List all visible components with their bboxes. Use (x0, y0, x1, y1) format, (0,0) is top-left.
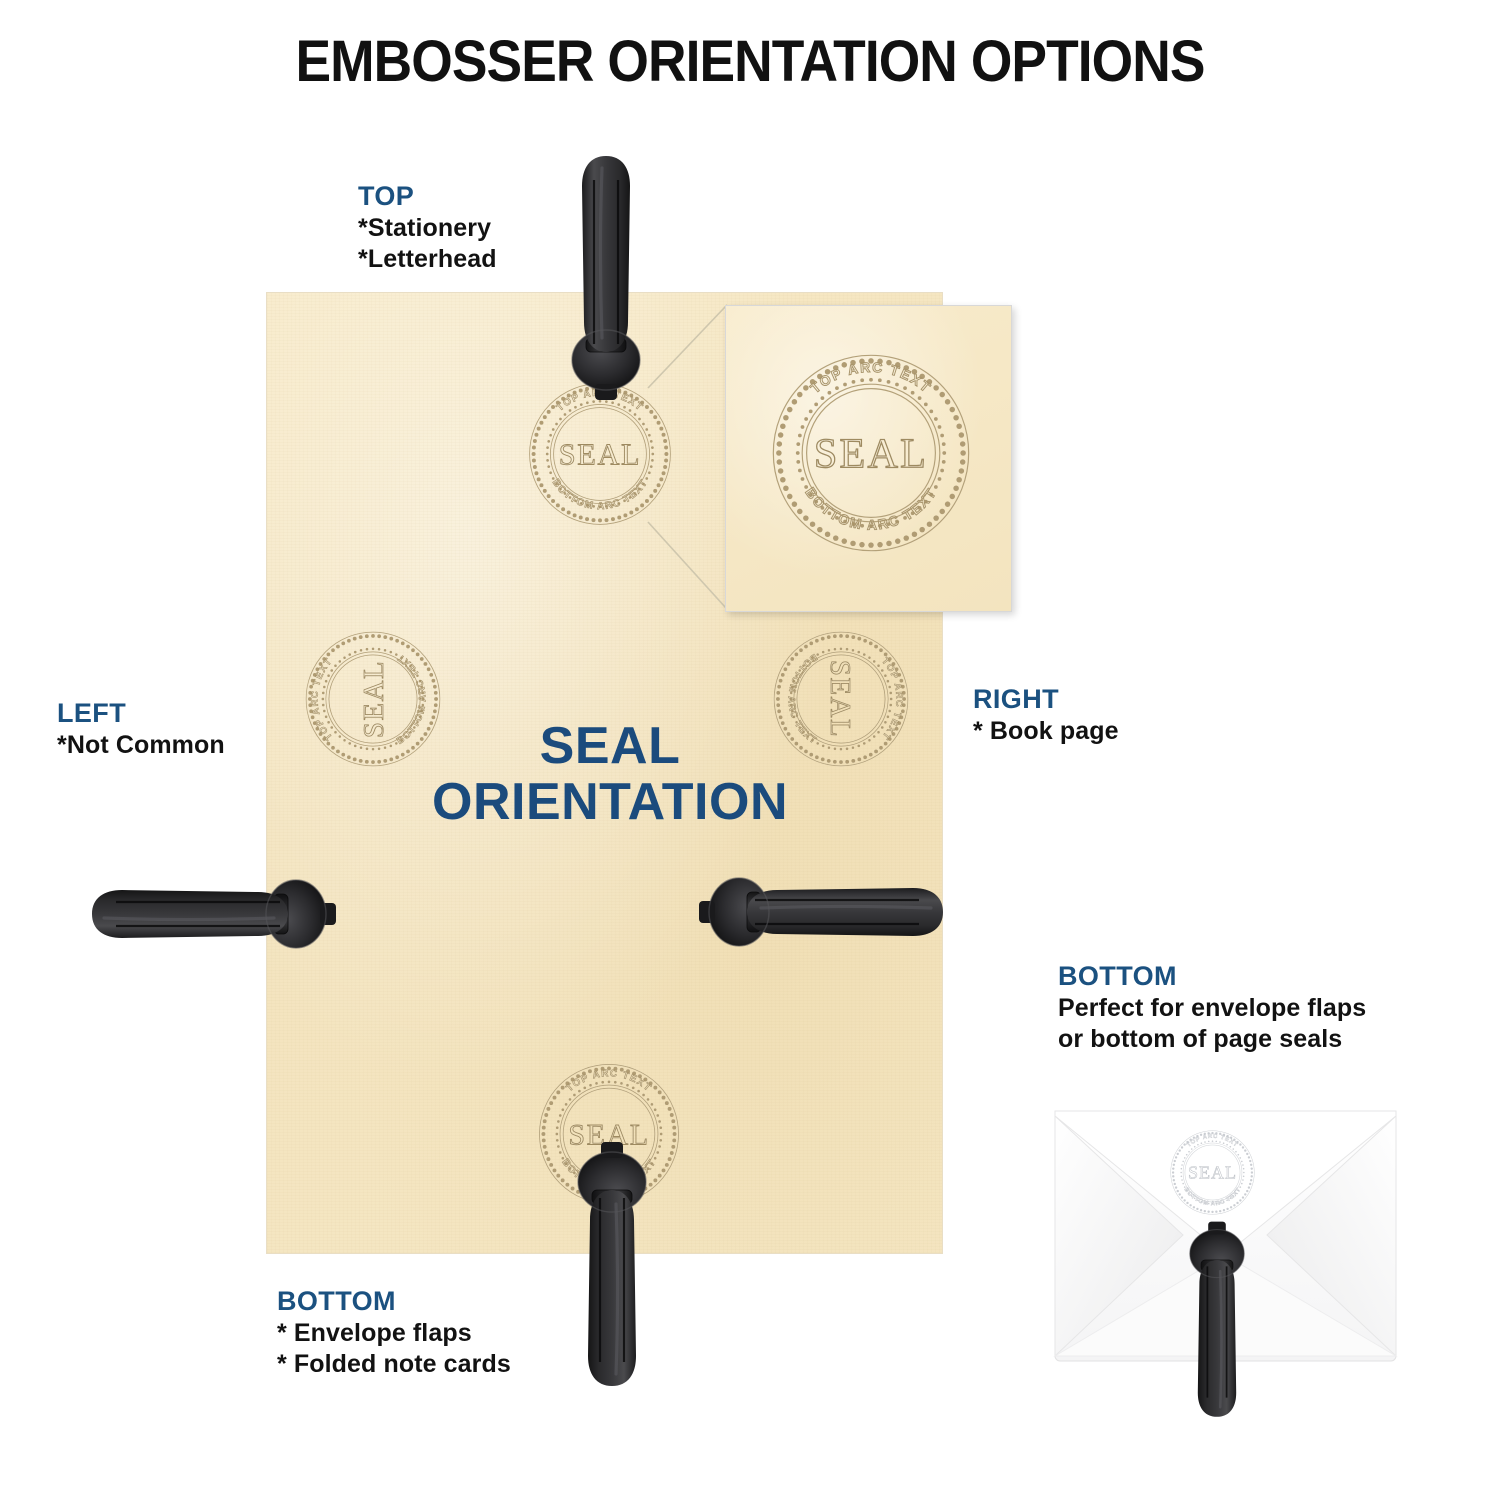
center-label-line-2: ORIENTATION (330, 774, 890, 830)
callout-top-line-2: *Letterhead (358, 244, 497, 276)
callout-right-heading: RIGHT (973, 683, 1119, 716)
infographic-canvas: EMBOSSER ORIENTATION OPTIONS TOP ARC TEX… (0, 0, 1500, 1500)
callout-bottom-page-heading: BOTTOM (277, 1285, 511, 1318)
callout-top-heading: TOP (358, 180, 497, 213)
page-title: EMBOSSER ORIENTATION OPTIONS (60, 28, 1440, 95)
magnified-seal-panel (725, 305, 1012, 612)
callout-left-heading: LEFT (57, 697, 225, 730)
callout-right-line-1: * Book page (973, 716, 1119, 748)
callout-top: TOP *Stationery *Letterhead (358, 180, 497, 276)
callout-bottom-envelope: BOTTOM Perfect for envelope flaps or bot… (1058, 960, 1366, 1056)
callout-bottom-envelope-line-2: or bottom of page seals (1058, 1024, 1366, 1056)
callout-bottom-page: BOTTOM * Envelope flaps * Folded note ca… (277, 1285, 511, 1381)
center-label-line-1: SEAL (330, 718, 890, 774)
callout-top-line-1: *Stationery (358, 213, 497, 245)
callout-right: RIGHT * Book page (973, 683, 1119, 747)
callout-left-line-1: *Not Common (57, 730, 225, 762)
callout-left: LEFT *Not Common (57, 697, 225, 761)
envelope-icon (1053, 1105, 1398, 1367)
callout-bottom-page-line-1: * Envelope flaps (277, 1318, 511, 1350)
center-seal-orientation-label: SEAL ORIENTATION (330, 718, 890, 830)
callout-bottom-envelope-heading: BOTTOM (1058, 960, 1366, 993)
callout-bottom-envelope-line-1: Perfect for envelope flaps (1058, 993, 1366, 1025)
callout-bottom-page-line-2: * Folded note cards (277, 1349, 511, 1381)
